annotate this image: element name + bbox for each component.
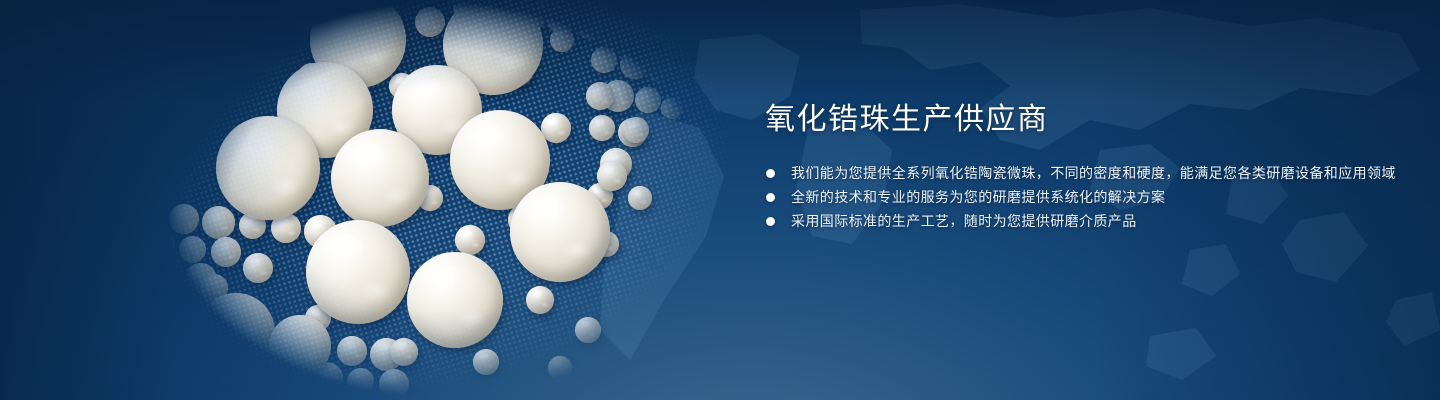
- bead: [455, 225, 485, 255]
- zirconia-beads-image: [0, 0, 760, 400]
- bead: [635, 87, 661, 113]
- list-item: 全新的技术和专业的服务为您的研磨提供系统化的解决方案: [765, 186, 1405, 209]
- bead: [628, 186, 652, 210]
- bead: [597, 161, 627, 191]
- bead: [306, 220, 410, 324]
- bead: [337, 336, 367, 366]
- bead: [640, 48, 664, 72]
- bead: [473, 349, 499, 375]
- bead: [202, 206, 235, 239]
- bead: [179, 236, 206, 263]
- feature-list: 我们能为您提供全系列氧化锆陶瓷微珠，不同的密度和硬度，能满足您各类研磨设备和应用…: [765, 162, 1405, 233]
- bead: [415, 7, 445, 37]
- bead: [151, 261, 181, 291]
- bead: [575, 317, 601, 343]
- bead: [599, 23, 621, 45]
- bead: [142, 230, 175, 263]
- bead: [510, 182, 610, 282]
- list-item: 采用国际标准的生产工艺，随时为您提供研磨介质产品: [765, 210, 1405, 233]
- bead: [661, 97, 683, 119]
- hero-banner: 氧化锆珠生产供应商 我们能为您提供全系列氧化锆陶瓷微珠，不同的密度和硬度，能满足…: [0, 0, 1440, 400]
- bead: [526, 286, 554, 314]
- page-title: 氧化锆珠生产供应商: [765, 100, 1405, 140]
- bead: [586, 82, 614, 110]
- bead: [137, 203, 164, 230]
- bead: [197, 293, 275, 371]
- bead: [623, 117, 649, 143]
- bead: [591, 47, 617, 73]
- bullet-dot-icon: [766, 193, 775, 202]
- bead: [666, 22, 695, 51]
- list-item: 我们能为您提供全系列氧化锆陶瓷微珠，不同的密度和硬度，能满足您各类研磨设备和应用…: [765, 162, 1405, 185]
- bead: [211, 237, 241, 267]
- bead: [589, 115, 615, 141]
- list-item-label: 我们能为您提供全系列氧化锆陶瓷微珠，不同的密度和硬度，能满足您各类研磨设备和应用…: [791, 165, 1396, 181]
- bead: [166, 320, 199, 353]
- banner-copy: 氧化锆珠生产供应商 我们能为您提供全系列氧化锆陶瓷微珠，不同的密度和硬度，能满足…: [765, 100, 1405, 234]
- bead: [407, 252, 503, 348]
- bead: [269, 315, 331, 377]
- bead: [161, 293, 188, 320]
- bullet-dot-icon: [766, 217, 775, 226]
- bead: [347, 368, 374, 395]
- list-item-label: 采用国际标准的生产工艺，随时为您提供研磨介质产品: [791, 213, 1137, 229]
- bead: [169, 204, 199, 234]
- bead: [550, 28, 574, 52]
- bead: [175, 351, 205, 381]
- bead: [379, 369, 409, 399]
- list-item-label: 全新的技术和专业的服务为您的研磨提供系统化的解决方案: [791, 189, 1165, 205]
- bead: [243, 253, 273, 283]
- bead: [548, 356, 572, 380]
- bead: [390, 338, 418, 366]
- bead: [331, 129, 429, 227]
- bead: [216, 116, 320, 220]
- bead: [637, 19, 663, 45]
- bullet-dot-icon: [766, 169, 775, 178]
